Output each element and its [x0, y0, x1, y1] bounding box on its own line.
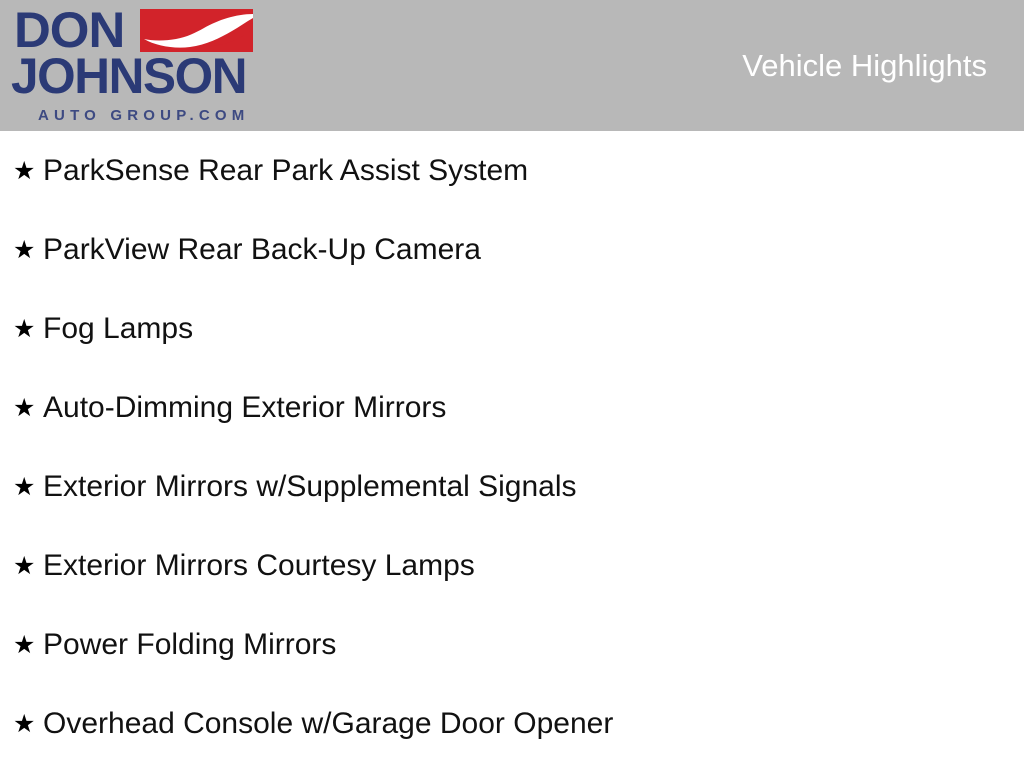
logo-red-badge — [140, 9, 253, 52]
star-icon: ★ — [13, 393, 43, 423]
logo-text-johnson: JOHNSON — [11, 50, 246, 102]
vehicle-highlights-list: ★ ParkSense Rear Park Assist System ★ Pa… — [0, 131, 1024, 763]
star-icon: ★ — [13, 156, 43, 186]
list-item: ★ Fog Lamps — [0, 289, 1024, 368]
logo-tagline: AUTO GROUP.COM — [38, 107, 249, 124]
list-item: ★ ParkSense Rear Park Assist System — [0, 131, 1024, 210]
list-item: ★ Overhead Console w/Garage Door Opener — [0, 684, 1024, 763]
list-item-label: Exterior Mirrors Courtesy Lamps — [43, 548, 475, 584]
page-header: DON JOHNSON AUTO GROUP.COM Vehicle Highl… — [0, 0, 1024, 131]
list-item: ★ Exterior Mirrors Courtesy Lamps — [0, 526, 1024, 605]
star-icon: ★ — [13, 235, 43, 265]
vehicle-highlights-page: DON JOHNSON AUTO GROUP.COM Vehicle Highl… — [0, 0, 1024, 768]
list-item-label: Fog Lamps — [43, 311, 193, 347]
list-item-label: ParkSense Rear Park Assist System — [43, 153, 528, 189]
list-item: ★ Power Folding Mirrors — [0, 605, 1024, 684]
list-item-label: ParkView Rear Back-Up Camera — [43, 232, 481, 268]
list-item-label: Overhead Console w/Garage Door Opener — [43, 706, 613, 742]
star-icon: ★ — [13, 551, 43, 581]
list-item: ★ ParkView Rear Back-Up Camera — [0, 210, 1024, 289]
list-item-label: Power Folding Mirrors — [43, 627, 336, 663]
star-icon: ★ — [13, 709, 43, 739]
star-icon: ★ — [13, 472, 43, 502]
list-item-label: Exterior Mirrors w/Supplemental Signals — [43, 469, 577, 505]
list-item-label: Auto-Dimming Exterior Mirrors — [43, 390, 446, 426]
list-item: ★ Auto-Dimming Exterior Mirrors — [0, 368, 1024, 447]
swoosh-icon — [140, 9, 253, 52]
page-title: Vehicle Highlights — [742, 48, 987, 84]
dealer-logo[interactable]: DON JOHNSON AUTO GROUP.COM — [0, 0, 270, 131]
list-item: ★ Exterior Mirrors w/Supplemental Signal… — [0, 447, 1024, 526]
star-icon: ★ — [13, 630, 43, 660]
star-icon: ★ — [13, 314, 43, 344]
